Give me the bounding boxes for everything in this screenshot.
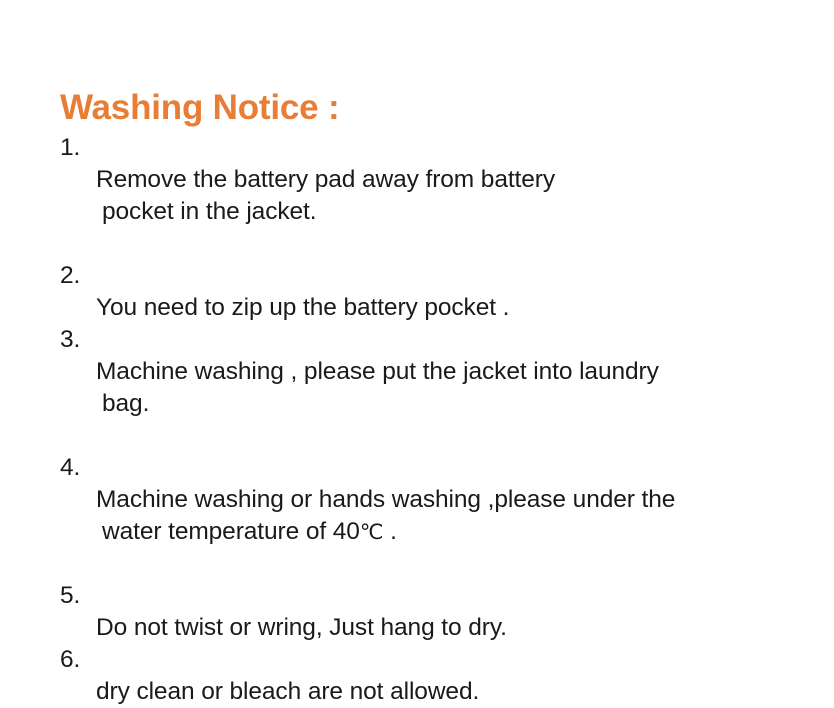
list-item: 2. You need to zip up the battery pocket… [60, 260, 780, 324]
list-item-line-primary: Machine washing , please put the jacket … [96, 358, 659, 385]
list-item: 1. Remove the battery pad away from batt… [60, 132, 780, 260]
list-item-line-continued: bag. [96, 388, 780, 420]
washing-notice-block: Washing Notice : 1. Remove the battery p… [60, 86, 780, 708]
list-item-text: Machine washing , please put the jacket … [96, 324, 780, 452]
list-item-line-primary: Do not twist or wring, Just hang to dry. [96, 614, 507, 641]
degree-celsius-icon: ℃ [360, 520, 384, 544]
list-item-number: 6. [60, 644, 96, 676]
list-item-text: Do not twist or wring, Just hang to dry. [96, 580, 780, 644]
list-item: 3. Machine washing , please put the jack… [60, 324, 780, 452]
list-item: 4. Machine washing or hands washing ,ple… [60, 452, 780, 580]
list-item-number: 2. [60, 260, 96, 292]
list-item-text: Machine washing or hands washing ,please… [96, 452, 780, 580]
list-item-number: 4. [60, 452, 96, 484]
list-item-line-primary: Machine washing or hands washing ,please… [96, 486, 675, 513]
list-item-line-primary: You need to zip up the battery pocket . [96, 294, 509, 321]
page-title: Washing Notice : [60, 86, 780, 130]
list-item-line-primary: dry clean or bleach are not allowed. [96, 678, 479, 705]
list-item-line-continued: pocket in the jacket. [96, 196, 780, 228]
list-item: 6. dry clean or bleach are not allowed. [60, 644, 780, 708]
washing-instructions-list: 1. Remove the battery pad away from batt… [60, 132, 780, 708]
list-item-line-continued: water temperature of 40℃ . [96, 516, 780, 548]
washing-notice-page: Washing Notice : 1. Remove the battery p… [0, 0, 834, 580]
list-item-number: 5. [60, 580, 96, 612]
list-item: 5. Do not twist or wring, Just hang to d… [60, 580, 780, 644]
list-item-text: You need to zip up the battery pocket . [96, 260, 780, 324]
list-item-number: 1. [60, 132, 96, 164]
list-item-number: 3. [60, 324, 96, 356]
list-item-line-primary: Remove the battery pad away from battery [96, 166, 555, 193]
list-item-text: dry clean or bleach are not allowed. [96, 644, 780, 708]
temperature-suffix: . [383, 518, 396, 545]
temperature-text: water temperature of 40 [102, 518, 360, 545]
list-item-text: Remove the battery pad away from battery… [96, 132, 780, 260]
